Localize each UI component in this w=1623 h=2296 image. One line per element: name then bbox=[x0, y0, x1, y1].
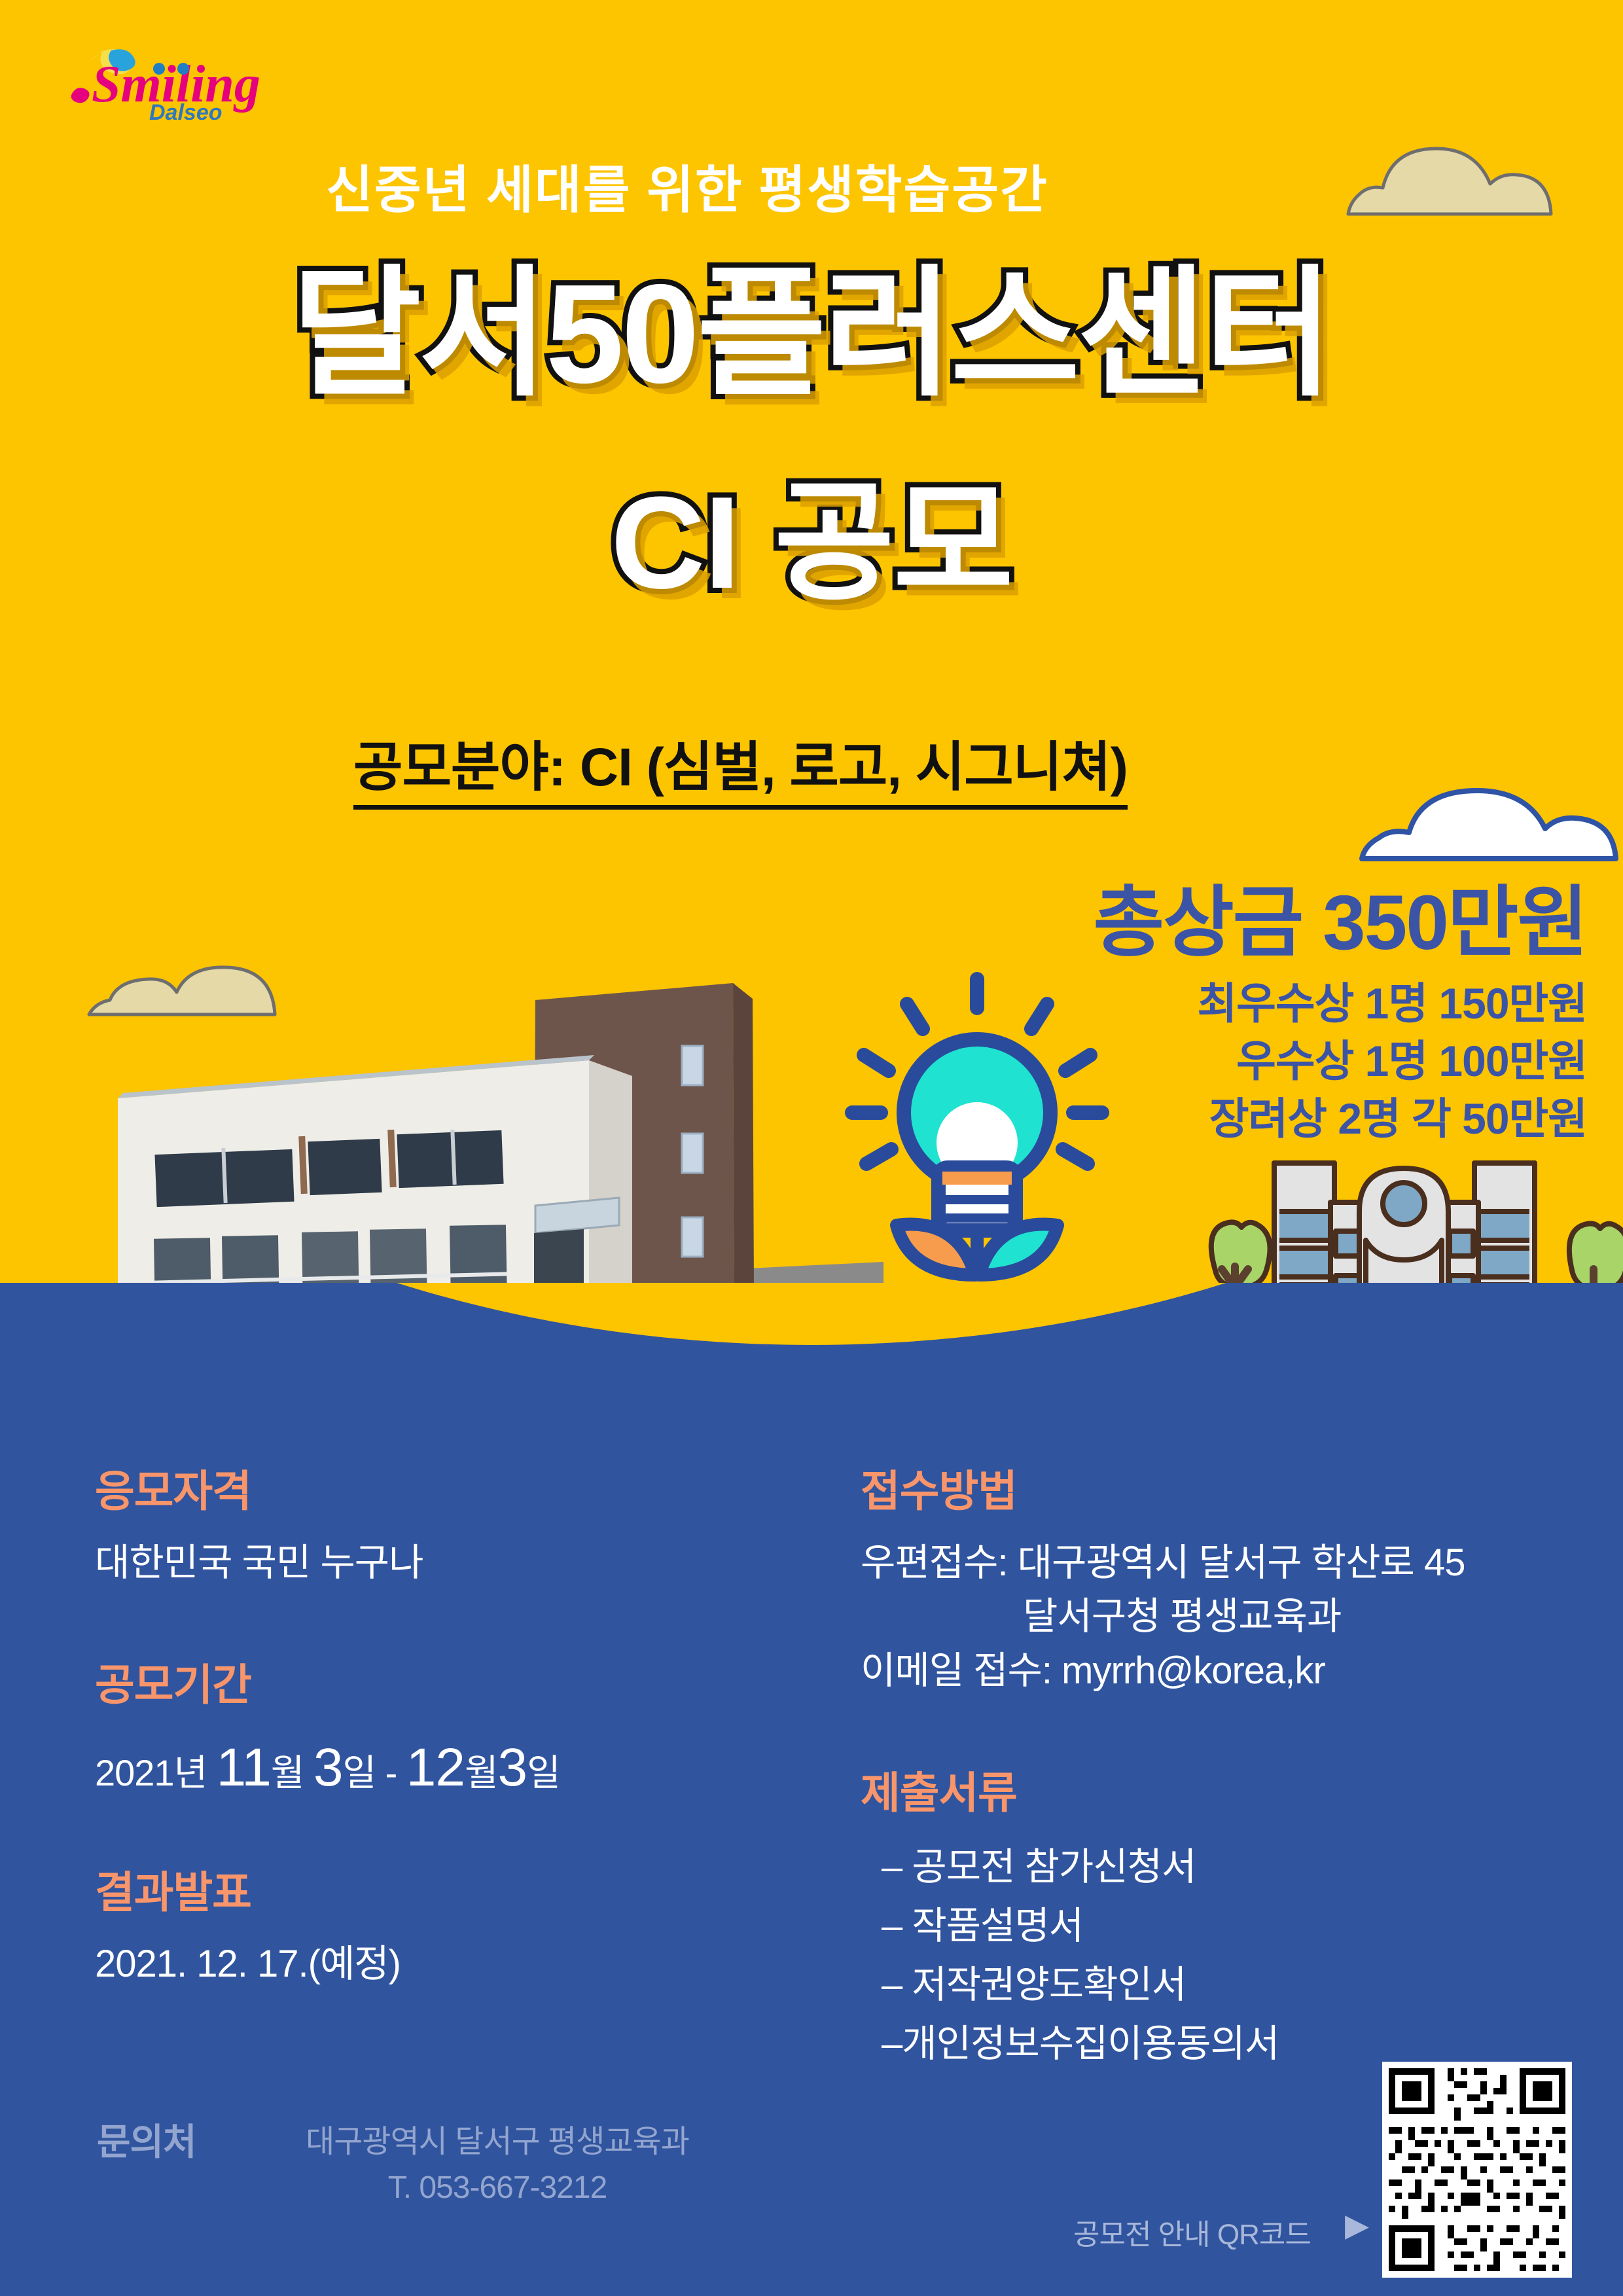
email-line: 이메일 접수: myrrh@korea,kr bbox=[861, 1649, 1325, 1692]
contact-label: 문의처 bbox=[97, 2113, 196, 2166]
qr-code[interactable] bbox=[1382, 2062, 1572, 2278]
period-day2: 3 bbox=[498, 1738, 527, 1797]
left-info-column: 응모자격 대한민국 국민 누구나 공모기간 2021년 11월 3일 - 12월… bbox=[95, 1456, 789, 2051]
cloud-white-prize bbox=[1358, 780, 1620, 869]
mail-line-2: 달서구청 평생교육과 bbox=[861, 1595, 1341, 1638]
eligibility-heading: 응모자격 bbox=[95, 1456, 789, 1519]
prize-item-1: 최우수상 1명 150만원 bbox=[1197, 975, 1587, 1033]
poster-title-line1: 달서50플러스센터 bbox=[0, 262, 1623, 405]
document-item-2: – 작품설명서 bbox=[882, 1897, 1594, 1956]
poster-title-line2: CI 공모 bbox=[0, 478, 1623, 609]
period-month2-unit: 월 bbox=[465, 1752, 498, 1793]
right-info-column: 접수방법 우편접수: 대구광역시 달서구 학산로 45 달서구청 평생교육과 이… bbox=[861, 1456, 1594, 2073]
announcement-body: 2021. 12. 17.(예정) bbox=[95, 1937, 789, 1991]
lightbulb-flower-icon bbox=[823, 967, 1131, 1295]
document-item-1: – 공모전 참가신청서 bbox=[882, 1838, 1594, 1897]
submission-method-heading: 접수방법 bbox=[861, 1456, 1594, 1519]
qr-code-label: 공모전 안내 QR코드 bbox=[1073, 2211, 1311, 2253]
prize-item-3: 장려상 2명 각 50만원 bbox=[1197, 1090, 1587, 1148]
submission-method-body: 우편접수: 대구광역시 달서구 학산로 45 달서구청 평생교육과 이메일 접수… bbox=[861, 1536, 1594, 1698]
contact-details: 대구광역시 달서구 평생교육과 T. 053-667-3212 bbox=[249, 2119, 746, 2210]
period-year: 2021년 bbox=[95, 1752, 217, 1793]
contact-org: 대구광역시 달서구 평생교육과 bbox=[249, 2119, 746, 2165]
contest-field-label: 공모분야: CI (심벌, 로고, 시그니쳐) bbox=[353, 723, 1128, 810]
period-month2: 12 bbox=[406, 1738, 465, 1797]
contact-tel: T. 053-667-3212 bbox=[249, 2165, 746, 2211]
period-day2-unit: 일 bbox=[527, 1752, 560, 1793]
poster-subtitle: 신중년 세대를 위한 평생학습공간 bbox=[0, 149, 1374, 223]
prize-total: 총상금 350만원 bbox=[1094, 859, 1587, 971]
period-day1-unit: 일 - bbox=[343, 1752, 406, 1793]
period-month1-unit: 월 bbox=[271, 1752, 313, 1793]
svg-text:Dalseo: Dalseo bbox=[149, 100, 223, 121]
eligibility-body: 대한민국 국민 누구나 bbox=[95, 1536, 789, 1590]
prize-item-2: 우수상 1명 100만원 bbox=[1197, 1033, 1587, 1090]
document-item-3: – 저작권양도확인서 bbox=[882, 1956, 1594, 2015]
smiling-dalseo-logo: Smiling Dalseo bbox=[52, 36, 294, 121]
documents-heading: 제출서류 bbox=[861, 1758, 1594, 1821]
period-heading: 공모기간 bbox=[95, 1650, 789, 1713]
period-date-line: 2021년 11월 3일 - 12월3일 bbox=[95, 1752, 560, 1793]
mail-line-1: 우편접수: 대구광역시 달서구 학산로 45 bbox=[861, 1541, 1465, 1584]
period-body: 2021년 11월 3일 - 12월3일 bbox=[95, 1730, 789, 1806]
documents-list: – 공모전 참가신청서 – 작품설명서 – 저작권양도확인서 –개인정보수집이용… bbox=[882, 1838, 1594, 2073]
announcement-heading: 결과발표 bbox=[95, 1857, 789, 1920]
prize-breakdown: 최우수상 1명 150만원 우수상 1명 100만원 장려상 2명 각 50만원 bbox=[1197, 975, 1587, 1147]
cloud-cream-top bbox=[1345, 141, 1554, 223]
qr-arrow-icon: ▶ bbox=[1345, 2207, 1369, 2244]
poster-root: Smiling Dalseo 신중년 세대를 위한 평생학습공간 달서50플러스… bbox=[0, 0, 1623, 2296]
period-month1: 11 bbox=[217, 1738, 271, 1797]
period-day1: 3 bbox=[313, 1738, 343, 1797]
